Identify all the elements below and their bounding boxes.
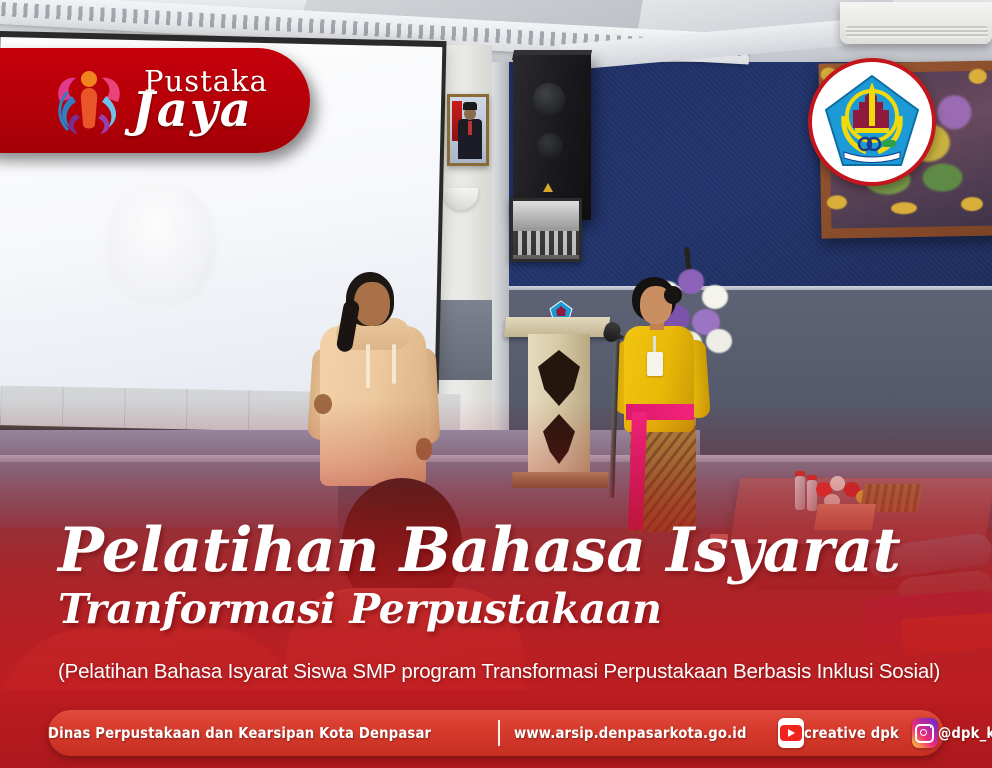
person-figure-logo-icon	[50, 62, 128, 140]
youtube-icon-body	[780, 725, 802, 741]
portrait-peci-cap	[463, 102, 477, 110]
kebaya-hair-bun	[664, 286, 682, 304]
bouquet-flower-purple	[678, 269, 704, 294]
black-white-photo-frame	[510, 198, 582, 262]
instagram-icon[interactable]	[912, 718, 938, 748]
event-caption: (Pelatihan Bahasa Isyarat Siswa SMP prog…	[58, 660, 940, 684]
carved-podium	[528, 334, 590, 479]
pustaka-jaya-wordmark: Pustaka Jaya	[132, 67, 268, 134]
portrait-image	[450, 97, 486, 163]
presenter-hand-right	[416, 438, 432, 460]
youtube-handle[interactable]: creative dpk	[804, 724, 899, 742]
denpasar-city-emblem	[808, 58, 936, 186]
painted-flower	[937, 95, 972, 130]
hoodie-string	[366, 344, 370, 388]
instagram-handle[interactable]: @dpk_kota_denpasar	[938, 724, 992, 742]
pustaka-jaya-banner: Pustaka Jaya	[0, 48, 310, 153]
youtube-icon[interactable]	[778, 718, 804, 748]
speaker-driver-upper	[533, 83, 565, 115]
page-subtitle: Tranformasi Perpustakaan	[58, 589, 938, 630]
bar-divider	[498, 720, 500, 746]
bouquet-flower-white	[706, 329, 732, 353]
wall-grey-panel	[434, 300, 492, 380]
title-block: Pelatihan Bahasa Isyarat Tranformasi Per…	[58, 520, 938, 630]
presenter-face	[354, 282, 390, 326]
hoodie-string	[392, 344, 396, 384]
page-title: Pelatihan Bahasa Isyarat	[58, 520, 938, 581]
podium-carving	[538, 350, 580, 406]
logo-line-2: Jaya	[132, 86, 268, 134]
website-url[interactable]: www.arsip.denpasarkota.go.id	[514, 724, 747, 742]
woman-in-hoodie	[320, 326, 426, 486]
framed-portrait	[447, 94, 489, 166]
podium-base	[511, 472, 608, 488]
name-badge	[647, 352, 663, 376]
poster-canvas: Pelatihan Bahasa Isyarat Tranformasi Per…	[0, 0, 992, 768]
instagram-camera-glyph	[915, 724, 934, 743]
bouquet-flower-white	[702, 285, 728, 309]
footer-contact-bar: Dinas Perpustakaan dan Kearsipan Kota De…	[48, 710, 944, 756]
black-white-photo	[513, 201, 579, 259]
table-flower-white	[830, 476, 845, 491]
speaker-warning-label	[543, 183, 553, 192]
photo-figures	[513, 231, 579, 255]
speaker-driver-lower	[537, 133, 563, 159]
organization-name: Dinas Perpustakaan dan Kearsipan Kota De…	[48, 724, 431, 742]
podium-carving	[538, 414, 580, 464]
play-triangle-icon	[788, 729, 795, 737]
painted-leaf	[922, 163, 962, 192]
presenter-hand-left	[314, 394, 332, 414]
air-conditioner-icon	[840, 2, 992, 44]
ac-vent	[846, 26, 988, 38]
emblem-pentagon-icon	[822, 72, 922, 172]
projected-image	[104, 179, 217, 306]
water-bottle	[795, 476, 805, 510]
loudspeaker	[513, 55, 591, 220]
portrait-tie	[468, 121, 472, 135]
